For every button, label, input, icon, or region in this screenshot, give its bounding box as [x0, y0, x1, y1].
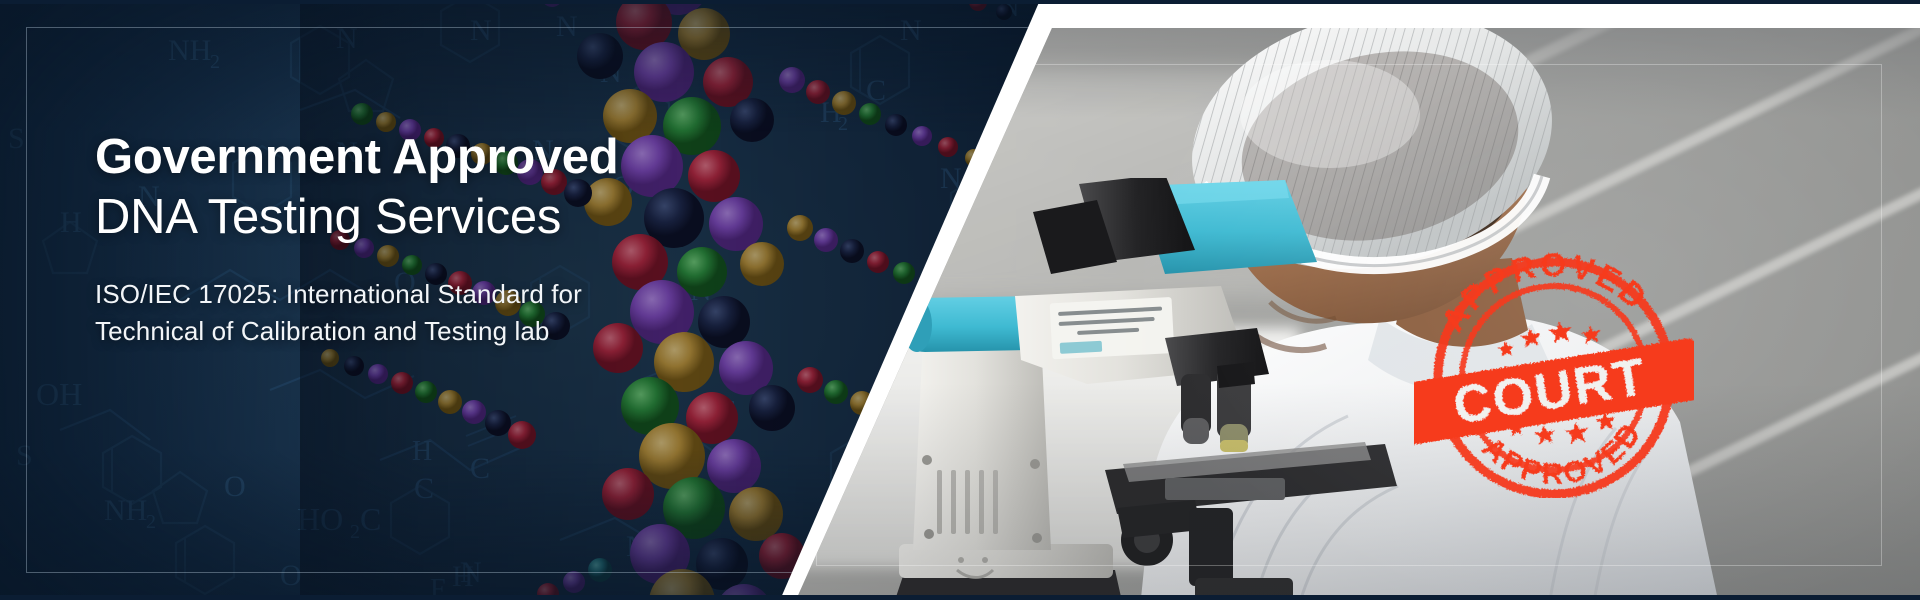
dna-testing-banner: S S NH 2 OH NH 2 N N N O O HO 2 C O C C …	[0, 0, 1920, 600]
headline-copy-block: Government Approved DNA Testing Services…	[95, 132, 815, 350]
subtitle-block: ISO/IEC 17025: International Standard fo…	[95, 276, 815, 350]
page-title-line2: DNA Testing Services	[95, 189, 815, 247]
page-title-line1: Government Approved	[95, 132, 815, 184]
bottom-edge-band	[0, 595, 1920, 600]
top-edge-band	[0, 0, 1920, 4]
subtitle-line1: ISO/IEC 17025: International Standard fo…	[95, 276, 815, 313]
subtitle-line2: Technical of Calibration and Testing lab	[95, 313, 815, 350]
